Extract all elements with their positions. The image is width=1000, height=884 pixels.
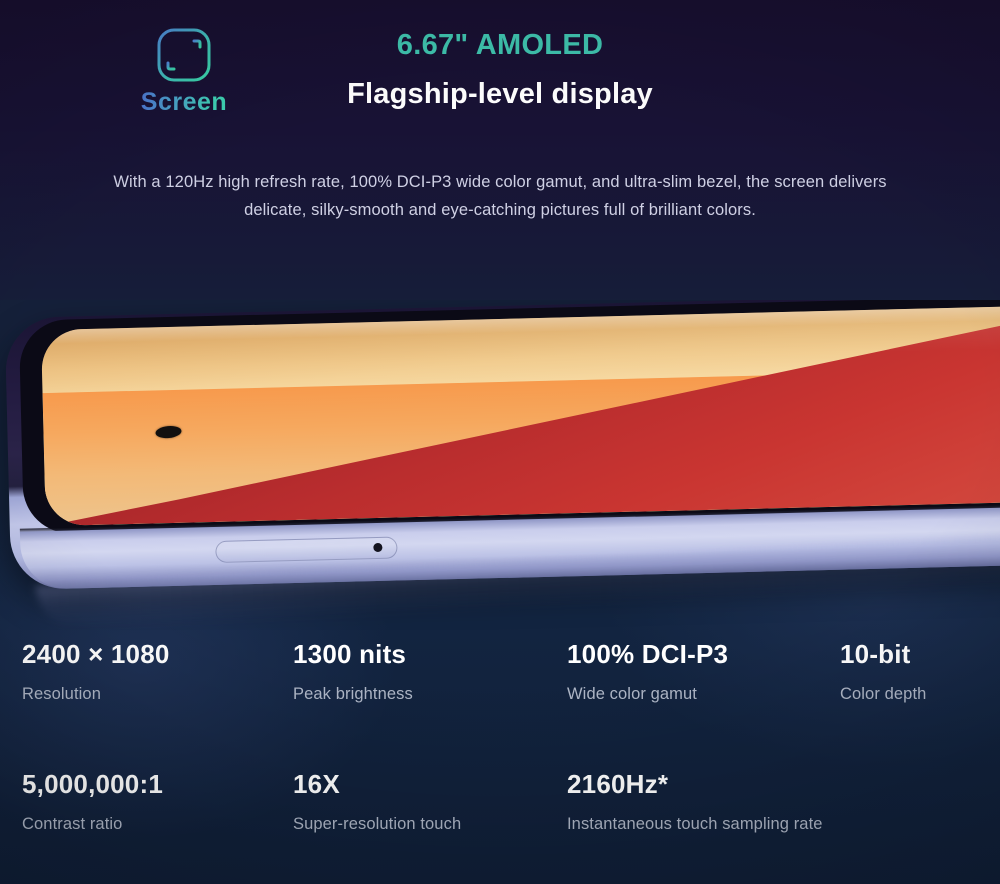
spec-item-color-depth: 10-bit Color depth: [840, 640, 990, 706]
spec-value: 5,000,000:1: [22, 770, 287, 799]
spec-label: Wide color gamut: [567, 683, 833, 706]
spec-value: 1300 nits: [293, 640, 561, 669]
brand-block: Screen: [124, 26, 244, 117]
screen-frame-icon: [155, 26, 213, 84]
spec-value: 100% DCI-P3: [567, 640, 833, 669]
spec-label: Color depth: [840, 683, 990, 706]
spec-label: Peak brightness: [293, 683, 561, 706]
spec-grid: 2400 × 1080 Resolution 1300 nits Peak br…: [0, 640, 1000, 884]
description-paragraph: With a 120Hz high refresh rate, 100% DCI…: [105, 168, 895, 225]
sim-tray-slot: [215, 537, 397, 563]
spec-value: 10-bit: [840, 640, 990, 669]
spec-value: 2400 × 1080: [22, 640, 287, 669]
display-feature-page: Screen 6.67" AMOLED Flagship-level displ…: [0, 0, 1000, 884]
spec-value: 16X: [293, 770, 561, 799]
spec-row: 5,000,000:1 Contrast ratio 16X Super-res…: [0, 770, 1000, 884]
spec-item-super-resolution-touch: 16X Super-resolution touch: [293, 770, 561, 836]
phone-bezel: [19, 300, 1000, 535]
phone-device: [5, 300, 1000, 590]
spec-label: Resolution: [22, 683, 287, 706]
phone-screen: [41, 305, 1000, 526]
spec-item-peak-brightness: 1300 nits Peak brightness: [293, 640, 561, 706]
spec-item-resolution: 2400 × 1080 Resolution: [22, 640, 287, 706]
spec-label: Instantaneous touch sampling rate: [567, 813, 833, 836]
spec-kicker: 6.67" AMOLED: [230, 28, 770, 63]
spec-item-touch-sampling-rate: 2160Hz* Instantaneous touch sampling rat…: [567, 770, 833, 836]
spec-label: Super-resolution touch: [293, 813, 561, 836]
spec-row: 2400 × 1080 Resolution 1300 nits Peak br…: [0, 640, 1000, 770]
spec-item-color-gamut: 100% DCI-P3 Wide color gamut: [567, 640, 833, 706]
hero-device-image: [0, 300, 1000, 630]
page-title: Flagship-level display: [230, 77, 770, 112]
spec-label: Contrast ratio: [22, 813, 287, 836]
brand-label: Screen: [124, 88, 244, 117]
spec-value: 2160Hz*: [567, 770, 833, 799]
spec-item-contrast-ratio: 5,000,000:1 Contrast ratio: [22, 770, 287, 836]
header-text-block: 6.67" AMOLED Flagship-level display: [230, 28, 770, 112]
header-section: Screen 6.67" AMOLED Flagship-level displ…: [0, 0, 1000, 150]
